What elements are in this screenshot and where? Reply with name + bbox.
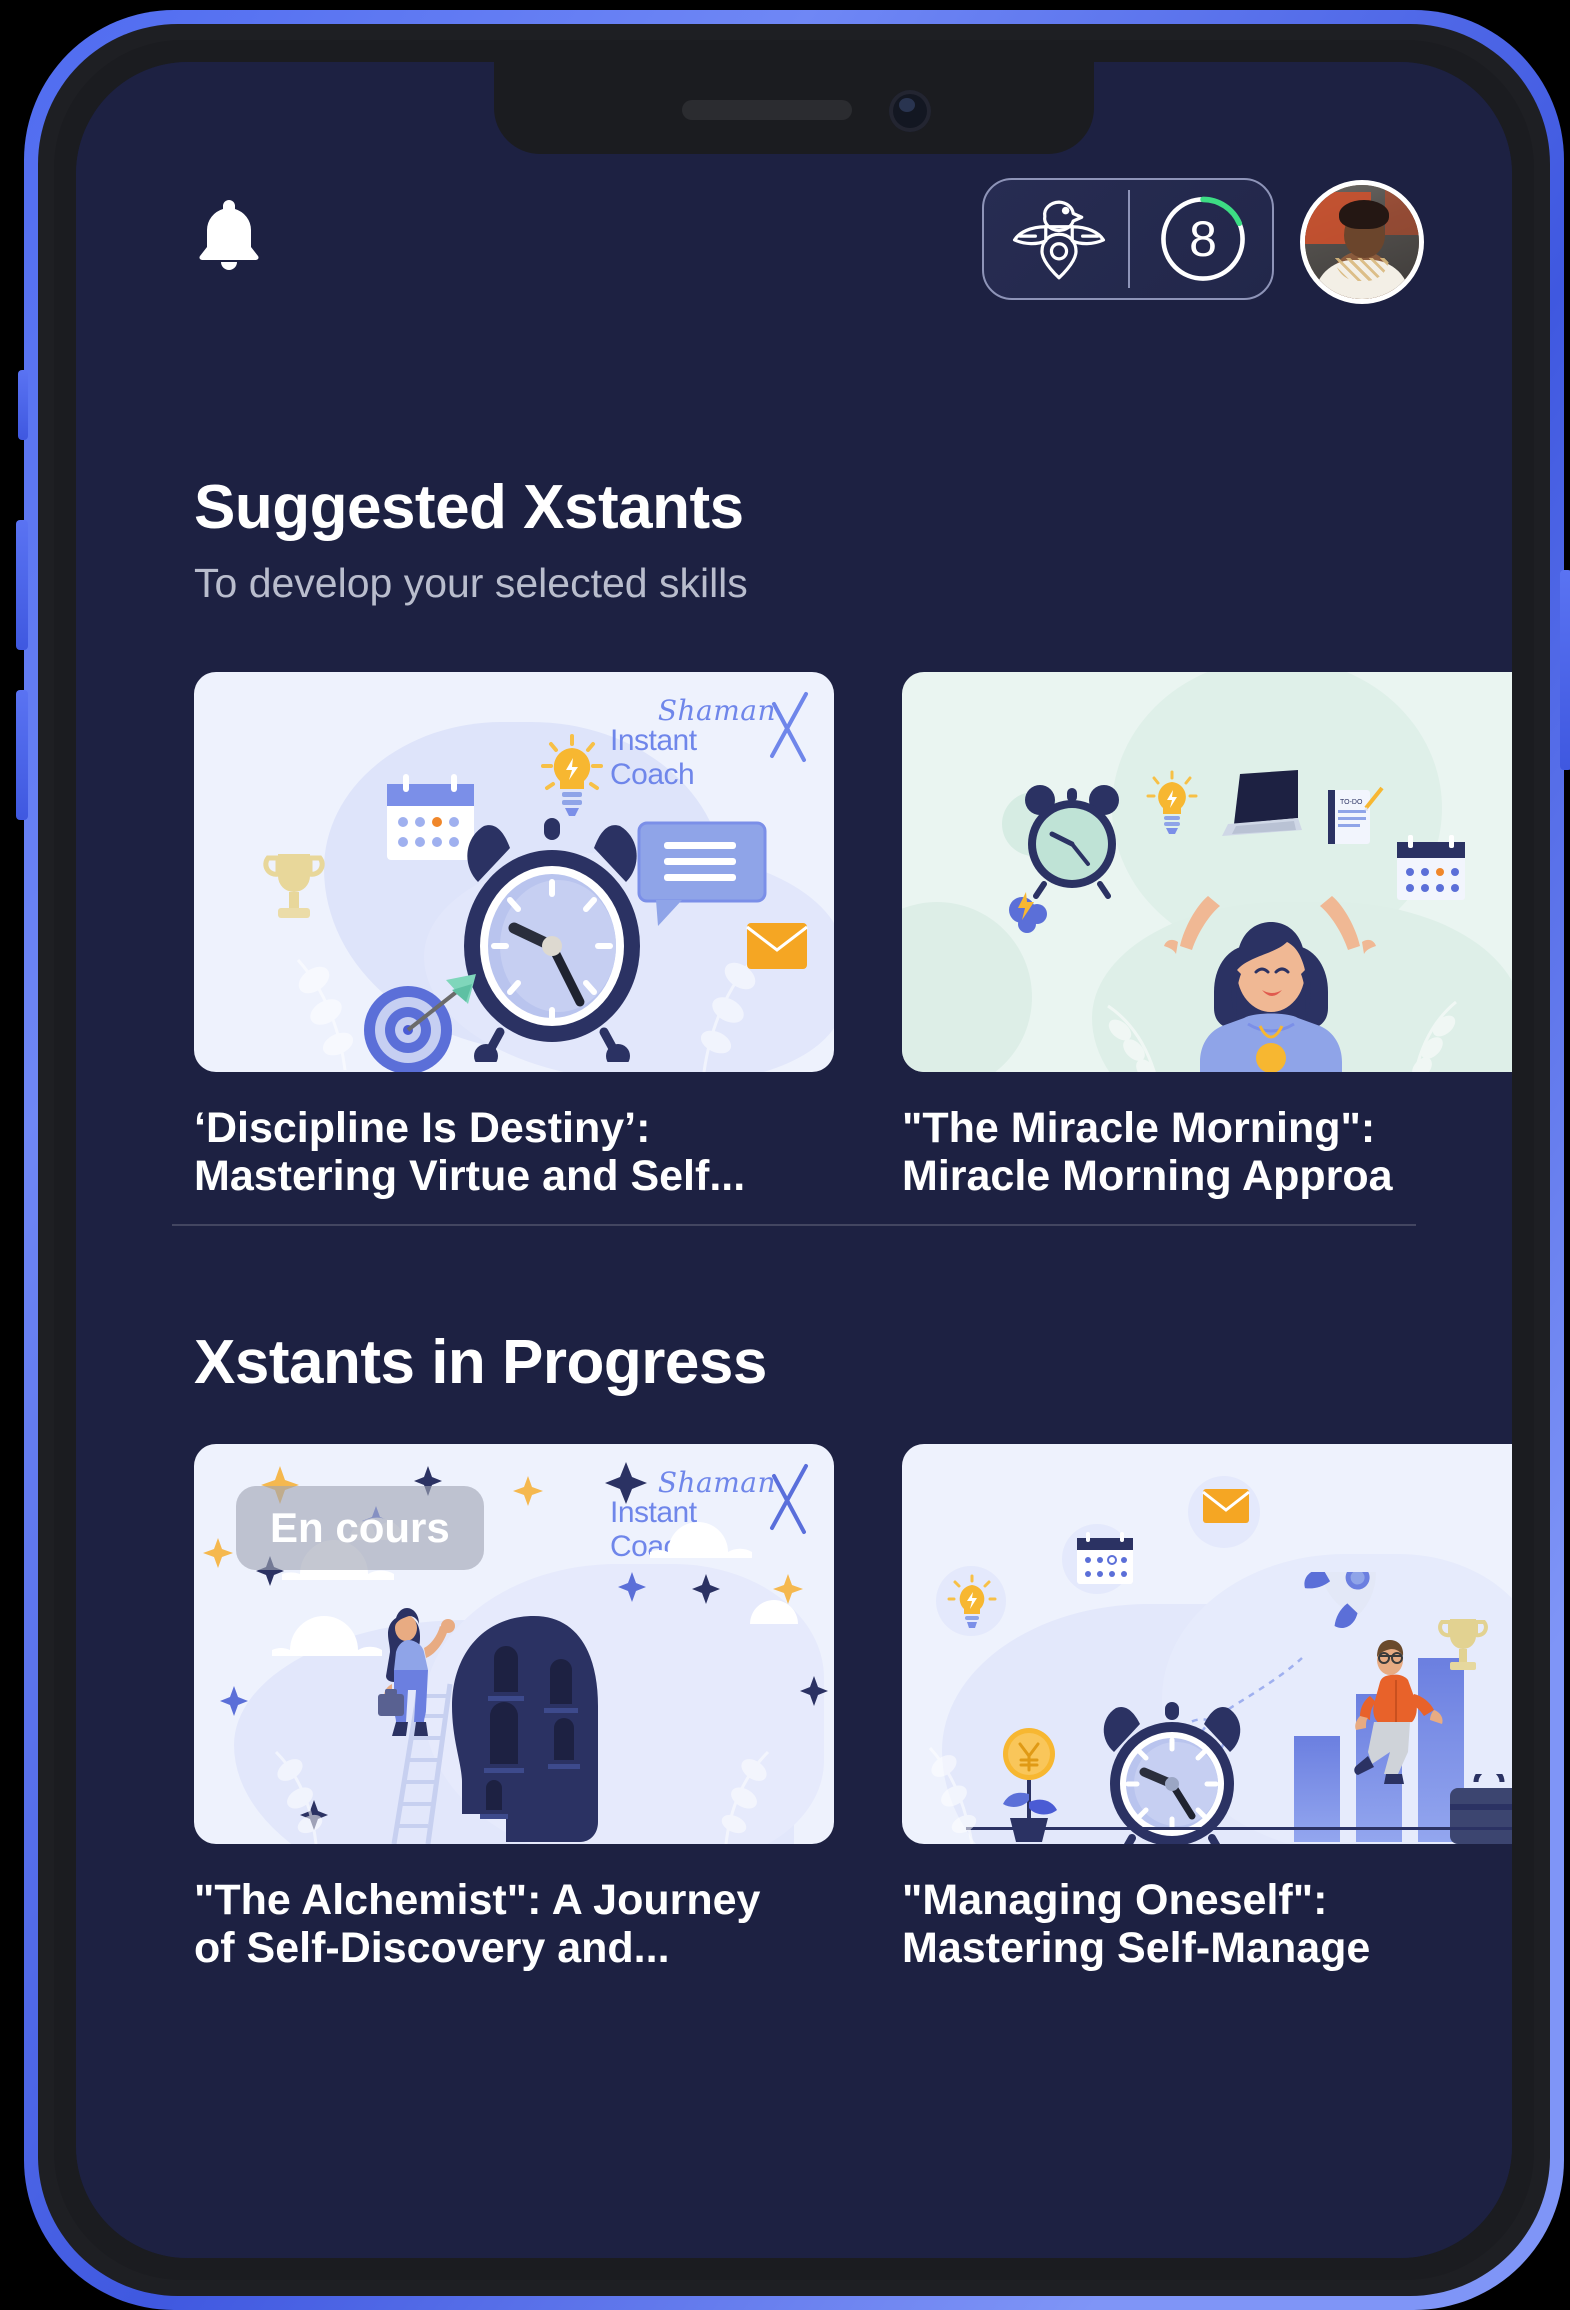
phone-screen: 8 Suggested Xstants To develop your sele… xyxy=(76,62,1512,2258)
card-thumbnail: Insta xyxy=(902,1444,1512,1844)
card-title: "The Miracle Morning": Miracle Morning A… xyxy=(902,1104,1512,1200)
app-header: 8 xyxy=(76,170,1512,300)
front-camera xyxy=(889,90,931,132)
level-value: 8 xyxy=(1157,193,1249,285)
volume-up-button[interactable] xyxy=(16,520,28,650)
laptop-icon xyxy=(1218,768,1304,844)
leaf-decoration-icon xyxy=(916,1714,1016,1844)
in-progress-card-row[interactable]: En cours Shaman Instant Coach xyxy=(76,1444,1512,1964)
envelope-icon xyxy=(746,922,808,970)
card-title: "Managing Oneself": Mastering Self-Manag… xyxy=(902,1876,1512,1972)
avatar-hair xyxy=(1339,200,1389,230)
leaf-decoration-icon xyxy=(672,1724,782,1844)
brand-logo: Shaman Instant Coach xyxy=(610,694,810,772)
phone-device: 8 Suggested Xstants To develop your sele… xyxy=(24,10,1564,2310)
notch xyxy=(494,62,1094,154)
alarm-clock-icon xyxy=(1092,1692,1252,1844)
leaf-decoration-icon xyxy=(264,1724,374,1844)
avatar-photo-backdrop-right xyxy=(1385,190,1419,236)
level-badge-pill[interactable]: 8 xyxy=(982,178,1274,300)
target-dart-icon xyxy=(360,972,490,1072)
lightbulb-icon xyxy=(1144,768,1200,844)
status-badge: En cours xyxy=(236,1486,484,1570)
envelope-icon xyxy=(1202,1488,1250,1528)
earpiece-speaker xyxy=(682,100,852,120)
suggested-card-row[interactable]: Shaman Instant Coach xyxy=(76,672,1512,1192)
badge-divider xyxy=(1128,190,1130,288)
trophy-icon xyxy=(260,850,328,924)
todo-list-icon: TO-DO xyxy=(1322,786,1388,852)
level-progress-ring: 8 xyxy=(1157,193,1249,285)
app-root: 8 Suggested Xstants To develop your sele… xyxy=(76,62,1512,2258)
section-title-in-progress: Xstants in Progress xyxy=(194,1327,767,1398)
head-building-icon xyxy=(446,1614,636,1844)
section-title-suggested: Suggested Xstants xyxy=(194,472,744,543)
woman-climbing-illustration xyxy=(370,1606,466,1742)
volume-down-button[interactable] xyxy=(16,690,28,820)
xstant-card[interactable]: En cours Shaman Instant Coach xyxy=(194,1444,834,1972)
xstant-card[interactable]: Insta xyxy=(902,672,1512,1200)
card-thumbnail: En cours Shaman Instant Coach xyxy=(194,1444,834,1844)
message-bubble-icon xyxy=(636,820,768,932)
brand-logo-line1: Shaman xyxy=(658,694,776,727)
lightbulb-icon xyxy=(944,1572,1000,1634)
notifications-button[interactable] xyxy=(194,196,264,274)
brand-logo: Insta xyxy=(1386,1474,1512,1552)
bird-pin-emblem-icon xyxy=(1007,187,1111,291)
bell-icon xyxy=(194,196,264,274)
card-thumbnail: Insta xyxy=(902,672,1512,1072)
alarm-clock-icon xyxy=(1020,780,1124,900)
section-subtitle-suggested: To develop your selected skills xyxy=(194,560,748,607)
climbing-man-illustration xyxy=(1342,1640,1452,1790)
card-thumbnail: Shaman Instant Coach xyxy=(194,672,834,1072)
brand-logo-line2: Instant Coach xyxy=(610,724,780,792)
power-button[interactable] xyxy=(1560,570,1570,770)
brand-x-mark-icon xyxy=(766,690,812,766)
briefcase-icon xyxy=(1446,1774,1512,1844)
card-title: "The Alchemist": A Journey of Self-Disco… xyxy=(194,1876,874,1972)
idea-cloud-icon xyxy=(1002,888,1054,940)
ground-line xyxy=(966,1827,1512,1830)
calendar-icon xyxy=(1074,1530,1136,1588)
card-title: ‘Discipline Is Destiny’: Mastering Virtu… xyxy=(194,1104,874,1200)
xstant-card[interactable]: Shaman Instant Coach xyxy=(194,672,834,1200)
section-divider xyxy=(172,1224,1416,1226)
celebrating-woman-illustration xyxy=(1136,884,1406,1072)
xstant-card[interactable]: Insta xyxy=(902,1444,1512,1972)
avatar[interactable] xyxy=(1300,180,1424,304)
silent-switch[interactable] xyxy=(18,370,28,440)
svg-text:TO-DO: TO-DO xyxy=(1340,799,1363,806)
brand-logo: Insta xyxy=(1386,702,1512,780)
